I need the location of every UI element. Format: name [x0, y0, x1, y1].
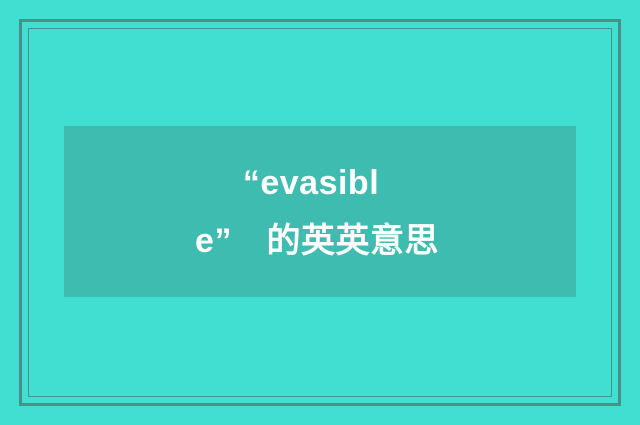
title-line-1: “evasibl [243, 154, 379, 212]
banner-canvas: “evasibl e” 的英英意思 [0, 0, 640, 425]
title-card-panel: “evasibl e” 的英英意思 [64, 126, 576, 297]
title-line-2: e” 的英英意思 [195, 212, 439, 270]
